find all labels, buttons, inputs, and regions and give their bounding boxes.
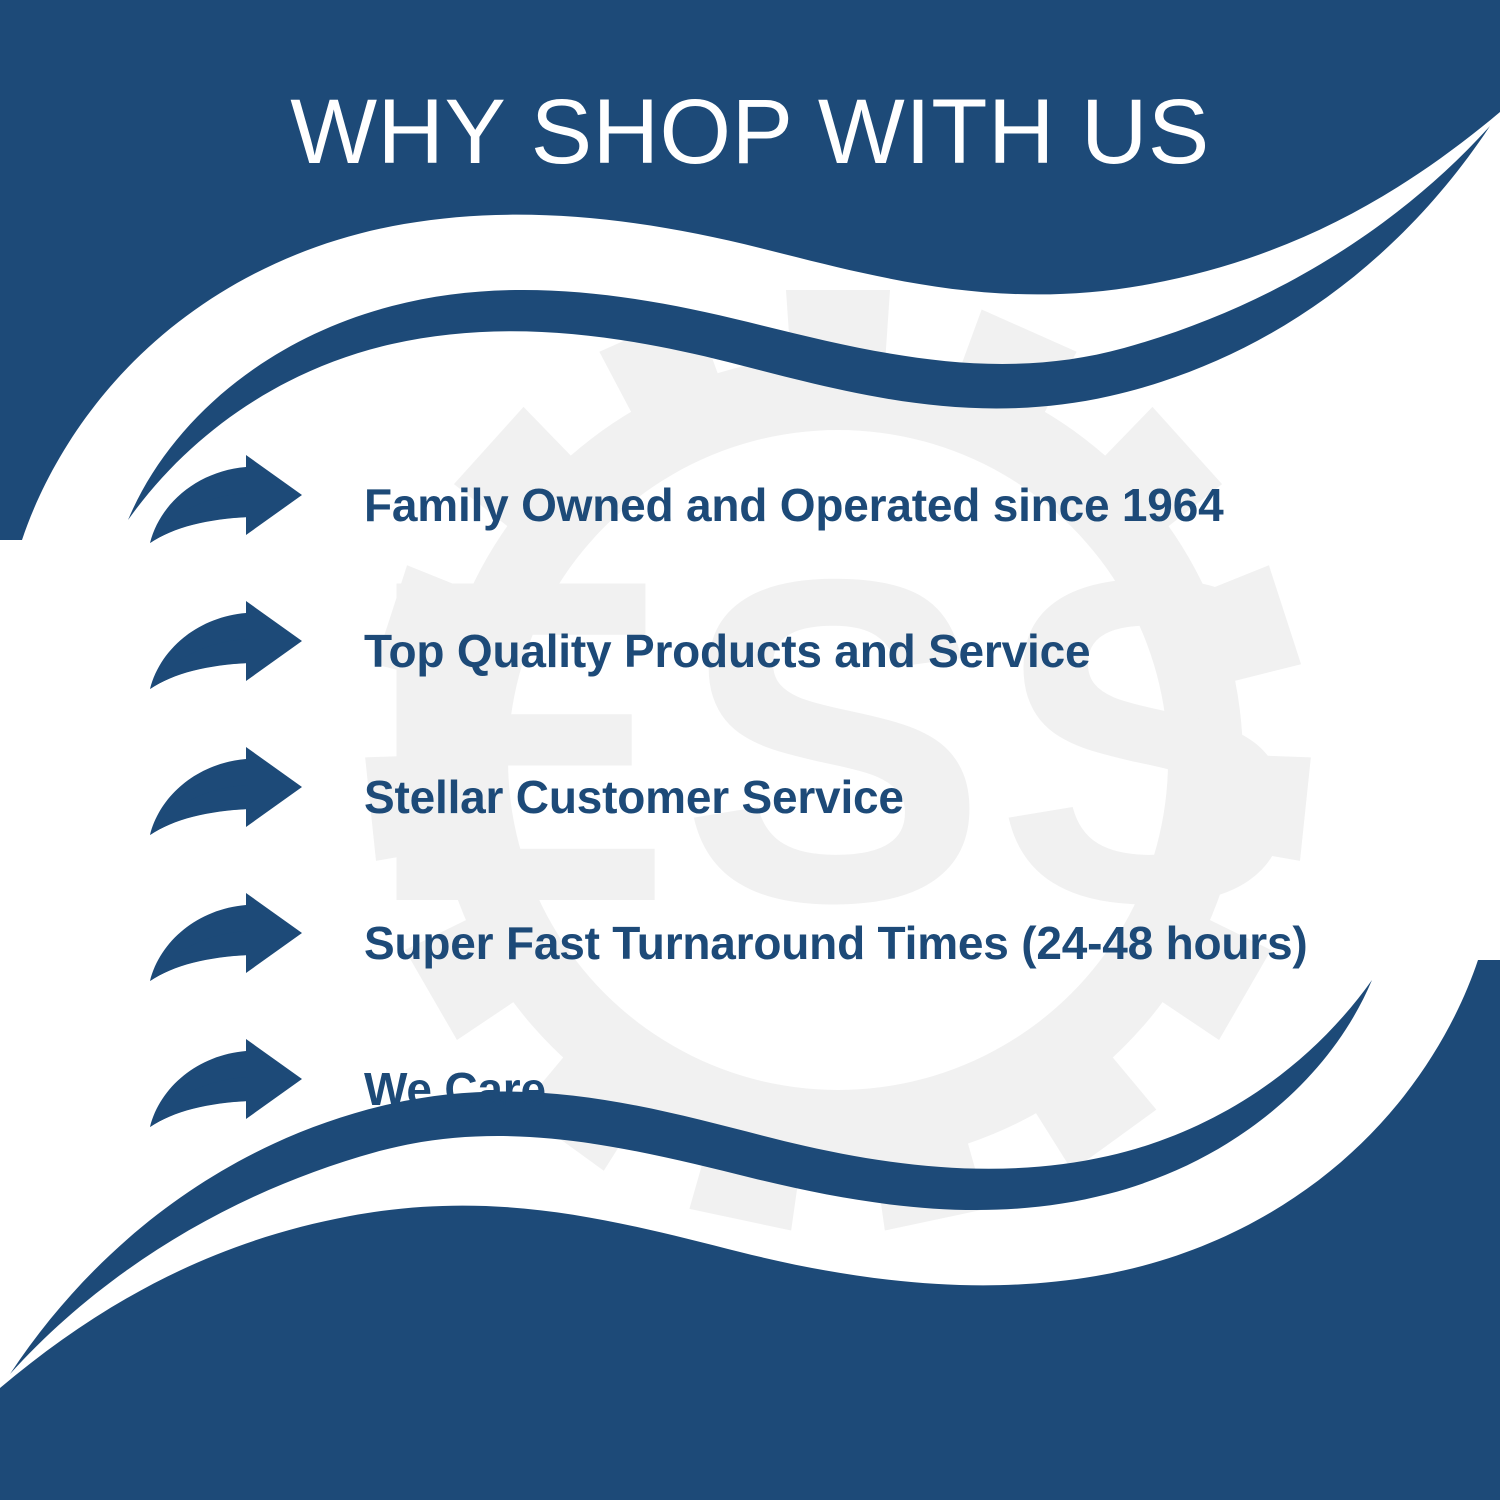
benefit-item: We Care xyxy=(150,1016,1450,1162)
benefits-list: Family Owned and Operated since 1964 Top… xyxy=(150,432,1450,1162)
page-title: WHY SHOP WITH US xyxy=(0,84,1500,181)
benefit-label: Stellar Customer Service xyxy=(364,772,1450,823)
benefit-item: Super Fast Turnaround Times (24-48 hours… xyxy=(150,870,1450,1016)
benefit-item: Top Quality Products and Service xyxy=(150,578,1450,724)
benefit-label: Top Quality Products and Service xyxy=(364,626,1450,677)
benefit-item: Stellar Customer Service xyxy=(150,724,1450,870)
curved-right-arrow-icon xyxy=(150,1039,302,1139)
curved-right-arrow-icon xyxy=(150,601,302,701)
curved-right-arrow-icon xyxy=(150,747,302,847)
curved-right-arrow-icon xyxy=(150,893,302,993)
benefit-label: Super Fast Turnaround Times (24-48 hours… xyxy=(364,918,1450,969)
curved-right-arrow-icon xyxy=(150,455,302,555)
why-shop-with-us-poster: ESS WHY SHOP WITH US xyxy=(0,0,1500,1500)
benefit-label: We Care xyxy=(364,1064,1450,1115)
benefit-label: Family Owned and Operated since 1964 xyxy=(364,480,1450,531)
benefit-item: Family Owned and Operated since 1964 xyxy=(150,432,1450,578)
